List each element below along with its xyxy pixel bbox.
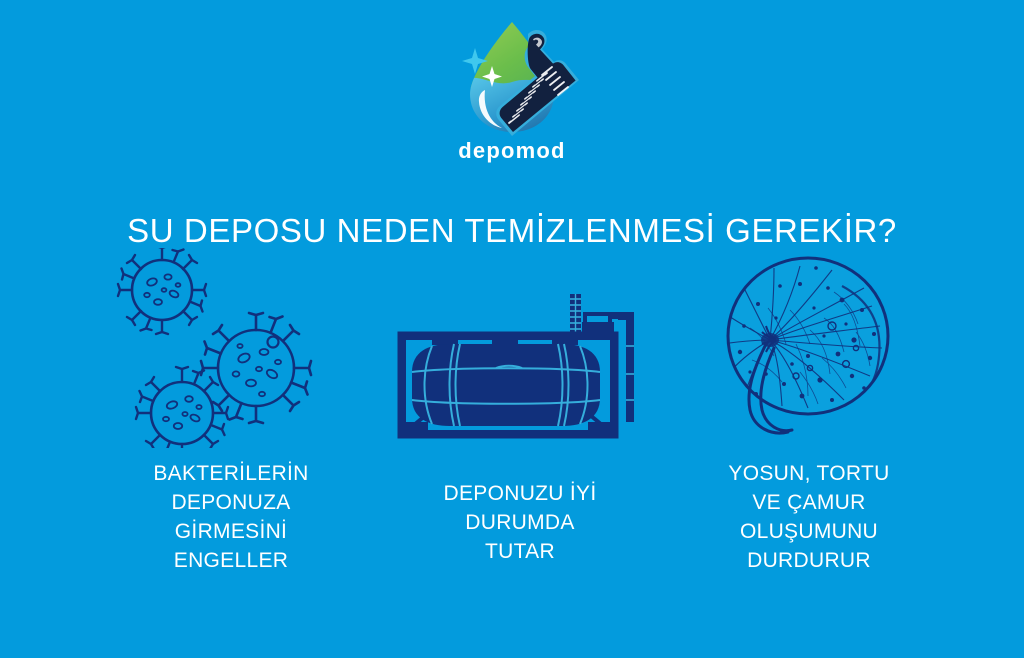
benefit-column-algae: YOSUN, TORTU VE ÇAMUR OLUŞUMUNU DURDURUR: [674, 248, 944, 576]
algae-icon-wrap: [679, 248, 939, 448]
water-storage-tank-icon: [392, 288, 648, 448]
bacteria-virus-cluster-icon: [116, 248, 346, 448]
benefit-column-tank: DEPONUZU İYİ DURUMDA TUTAR: [385, 248, 655, 567]
page-title: SU DEPOSU NEDEN TEMİZLENMESİ GEREKİR?: [0, 212, 1024, 250]
water-droplet-with-brush-icon: [442, 18, 582, 138]
benefit-caption-tank: DEPONUZU İYİ DURUMDA TUTAR: [444, 480, 597, 567]
poster-canvas: depomod SU DEPOSU NEDEN TEMİZLENMESİ GER…: [0, 0, 1024, 658]
benefits-row: BAKTERİLERİN DEPONUZA GİRMESİNİ ENGELLER: [96, 248, 944, 576]
tank-cylinder: [412, 344, 600, 426]
benefit-column-bacteria: BAKTERİLERİN DEPONUZA GİRMESİNİ ENGELLER: [96, 248, 366, 576]
bacteria-icon-wrap: [101, 248, 361, 448]
benefit-caption-algae: YOSUN, TORTU VE ÇAMUR OLUŞUMUNU DURDURUR: [728, 460, 889, 576]
brand-wordmark: depomod: [458, 140, 565, 162]
tank-ladder: [570, 294, 581, 338]
benefit-caption-bacteria: BAKTERİLERİN DEPONUZA GİRMESİNİ ENGELLER: [153, 460, 308, 576]
brand-logo: depomod: [0, 18, 1024, 162]
tank-icon-wrap: [390, 248, 650, 468]
algae-sediment-cell-icon: [704, 248, 914, 448]
